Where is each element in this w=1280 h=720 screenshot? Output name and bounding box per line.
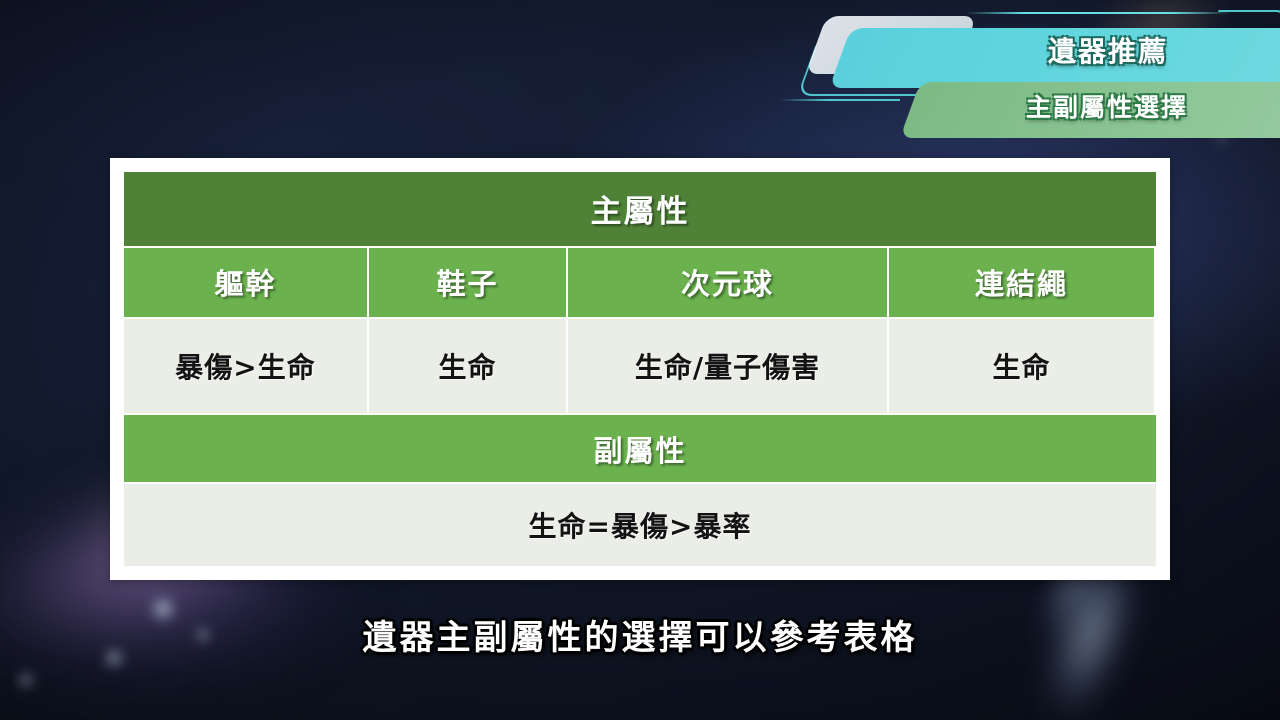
cell-value: 生命	[438, 346, 496, 386]
banner-accent-line-top	[965, 12, 1230, 14]
sub-attribute-value: 生命=暴傷>暴率	[529, 505, 752, 545]
cell-value: 生命/量子傷害	[635, 346, 820, 386]
sub-attribute-title-row: 副屬性	[124, 415, 1156, 483]
screenshot-root: 遺器推薦 主副屬性選擇 主屬性 軀幹 鞋子 次元球 連結繩	[0, 0, 1280, 720]
banner-primary-label: 遺器推薦	[1048, 30, 1168, 70]
column-header-trunk: 軀幹	[124, 248, 367, 318]
sub-attribute-title: 副屬性	[593, 428, 686, 470]
subtitle-caption: 遺器主副屬性的選擇可以參考表格	[0, 610, 1280, 659]
corner-banner-group: 遺器推薦 主副屬性選擇	[780, 0, 1280, 150]
sub-attribute-value-row: 生命=暴傷>暴率	[124, 484, 1156, 566]
main-attribute-title: 主屬性	[591, 186, 690, 231]
column-header-label: 連結繩	[975, 261, 1068, 303]
attribute-table: 主屬性 軀幹 鞋子 次元球 連結繩 暴傷>生命	[124, 172, 1156, 566]
main-attribute-value-row: 暴傷>生命 生命 生命/量子傷害 生命	[124, 319, 1156, 413]
banner-accent-line-lower	[780, 99, 900, 101]
column-header-planar-sphere: 次元球	[568, 248, 887, 318]
column-header-label: 次元球	[681, 261, 774, 303]
cell-value: 暴傷>生命	[175, 346, 315, 386]
table-cell-shoes-value: 生命	[369, 319, 566, 413]
column-header-row: 軀幹 鞋子 次元球 連結繩	[124, 248, 1156, 318]
column-header-link-rope: 連結繩	[889, 248, 1154, 318]
banner-secondary-label: 主副屬性選擇	[1026, 88, 1188, 124]
cell-value: 生命	[992, 346, 1050, 386]
table-cell-link-rope-value: 生命	[889, 319, 1154, 413]
table-cell-planar-sphere-value: 生命/量子傷害	[568, 319, 887, 413]
attribute-table-card: 主屬性 軀幹 鞋子 次元球 連結繩 暴傷>生命	[110, 158, 1170, 580]
table-cell-trunk-value: 暴傷>生命	[124, 319, 367, 413]
column-header-label: 鞋子	[436, 261, 498, 303]
main-attribute-title-row: 主屬性	[124, 172, 1156, 246]
column-header-label: 軀幹	[214, 261, 276, 303]
column-header-shoes: 鞋子	[369, 248, 566, 318]
